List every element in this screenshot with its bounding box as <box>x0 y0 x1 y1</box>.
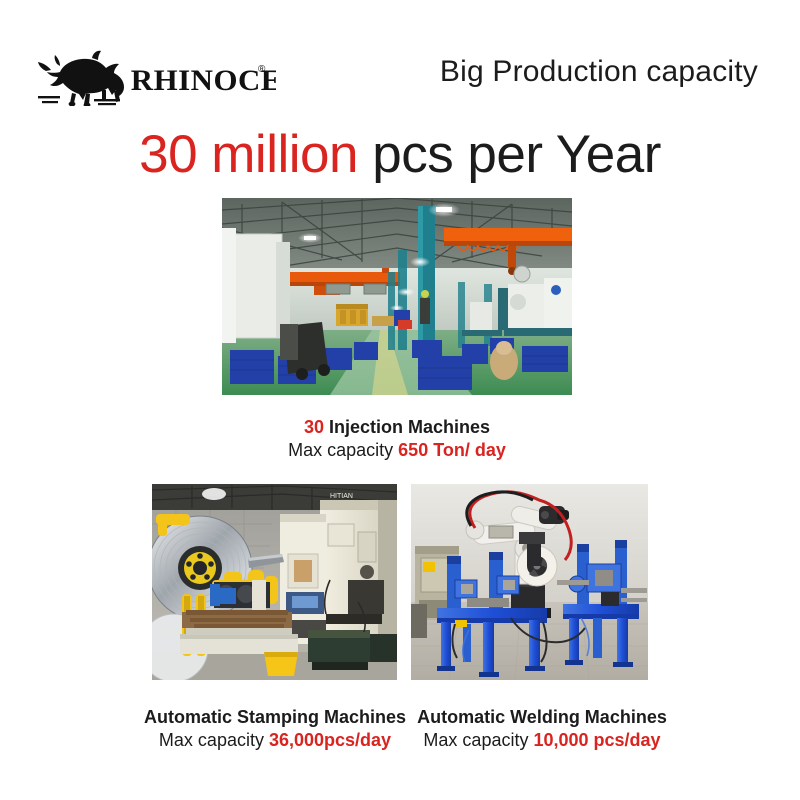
welding-machine-illustration <box>411 484 648 680</box>
welding-caption: Automatic Welding Machines Max capacity … <box>397 706 687 752</box>
factory-caption: 30 Injection Machines Max capacity 650 T… <box>197 416 597 462</box>
stamping-caption-capacity: Max capacity 36,000pcs/day <box>125 729 425 752</box>
welding-capacity-prefix: Max capacity <box>423 730 533 750</box>
headline: 30 million pcs per Year <box>0 124 800 186</box>
welding-caption-title: Automatic Welding Machines <box>397 706 687 729</box>
welding-machine-photo <box>411 484 648 680</box>
stamping-capacity-value: 36,000pcs/day <box>269 730 391 750</box>
factory-machine-count: 30 <box>304 417 324 437</box>
headline-rest: pcs per Year <box>358 125 661 184</box>
factory-interior-photo <box>222 198 572 395</box>
factory-interior-illustration <box>222 198 572 395</box>
registered-trademark-icon: ® <box>258 64 265 75</box>
factory-capacity-value: 650 Ton/ day <box>398 440 506 460</box>
welding-capacity-value: 10,000 pcs/day <box>533 730 660 750</box>
welding-caption-capacity: Max capacity 10,000 pcs/day <box>397 729 687 752</box>
headline-highlight: 30 million <box>139 125 358 184</box>
factory-capacity-prefix: Max capacity <box>288 440 398 460</box>
page-title: Big Production capacity <box>440 55 758 89</box>
factory-caption-title: 30 Injection Machines <box>197 416 597 439</box>
page-header: RHINOCEROS RHINOCEROS ® Big Production c… <box>0 50 800 110</box>
stamping-caption-title: Automatic Stamping Machines <box>125 706 425 729</box>
factory-caption-capacity: Max capacity 650 Ton/ day <box>197 439 597 462</box>
stamping-capacity-prefix: Max capacity <box>159 730 269 750</box>
stamping-machine-photo: HITIAN <box>152 484 397 680</box>
brand-wordmark: RHINOCEROS <box>131 63 276 96</box>
svg-text:HITIAN: HITIAN <box>330 493 353 500</box>
rhino-icon: RHINOCEROS <box>36 50 276 106</box>
stamping-caption: Automatic Stamping Machines Max capacity… <box>125 706 425 752</box>
factory-machine-label: Injection Machines <box>324 417 490 437</box>
stamping-machine-illustration: HITIAN <box>152 484 397 680</box>
brand-logo: RHINOCEROS RHINOCEROS ® <box>36 50 276 106</box>
